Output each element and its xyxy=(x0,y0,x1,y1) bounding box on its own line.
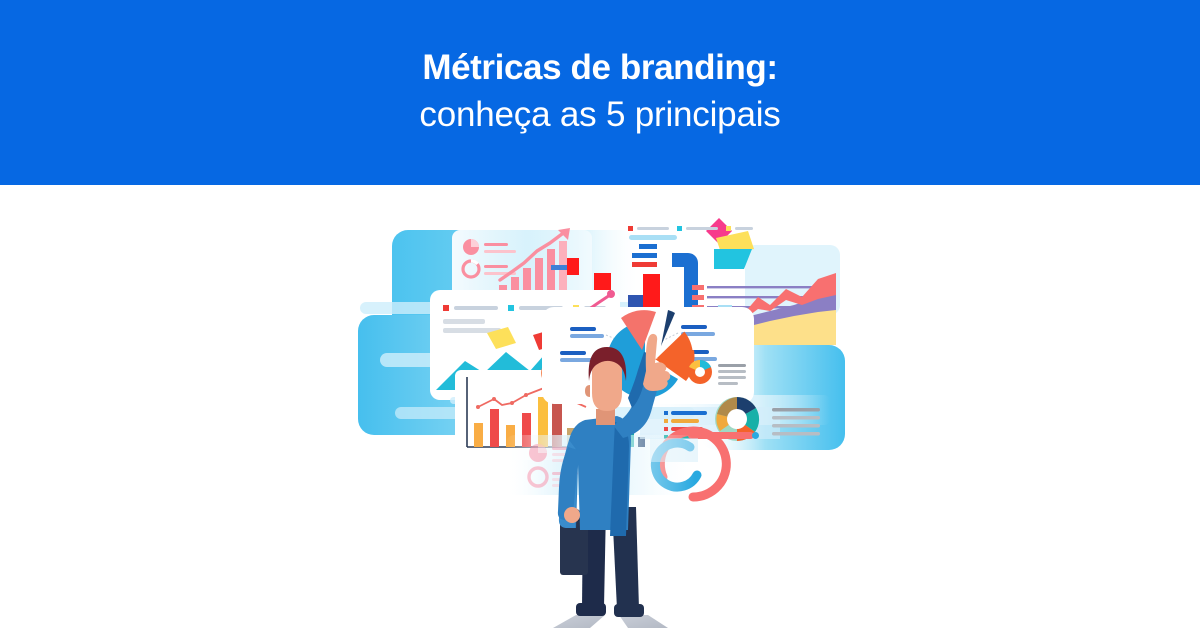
page-title-secondary: conheça as 5 principais xyxy=(419,92,780,138)
diamond-motif xyxy=(706,218,754,269)
bar-legend-blue-1 xyxy=(632,253,657,258)
hero-illustration xyxy=(0,185,1200,628)
text-line xyxy=(718,364,746,367)
mini-donut-orange xyxy=(688,360,712,384)
bar-legend-red-1 xyxy=(632,262,657,267)
legend-label xyxy=(454,306,498,310)
mini-pie-icon-1 xyxy=(463,239,479,255)
legend-dot xyxy=(508,305,514,311)
bar-red xyxy=(567,258,579,275)
mini-pie-icon-faint-1 xyxy=(529,444,547,462)
floor-shadow-left xyxy=(553,615,605,628)
text-line xyxy=(772,408,820,412)
header-banner: Métricas de branding: conheça as 5 princ… xyxy=(0,0,1200,185)
text-line xyxy=(443,319,485,324)
text-line xyxy=(484,243,508,246)
ring-label-cap xyxy=(752,432,759,439)
bar-legend-blue-2 xyxy=(639,244,657,249)
hand-left xyxy=(564,507,580,523)
text-line xyxy=(484,265,508,268)
bar-blue-sliver xyxy=(551,265,567,270)
text-line xyxy=(718,382,738,385)
text-line xyxy=(718,376,746,379)
page-root: Métricas de branding: conheça as 5 princ… xyxy=(0,0,1200,628)
neck xyxy=(596,409,615,425)
text-line xyxy=(772,432,820,436)
text-line xyxy=(772,416,820,420)
bar xyxy=(490,409,499,447)
text-line xyxy=(718,370,746,373)
text-line xyxy=(484,250,516,253)
illustration-canvas xyxy=(0,185,1200,628)
shoe-left xyxy=(576,603,606,616)
legend-dot xyxy=(443,305,449,311)
page-title-primary: Métricas de branding: xyxy=(422,47,777,88)
bar xyxy=(474,423,483,447)
shoe-right xyxy=(614,604,644,617)
text-line xyxy=(772,424,820,428)
